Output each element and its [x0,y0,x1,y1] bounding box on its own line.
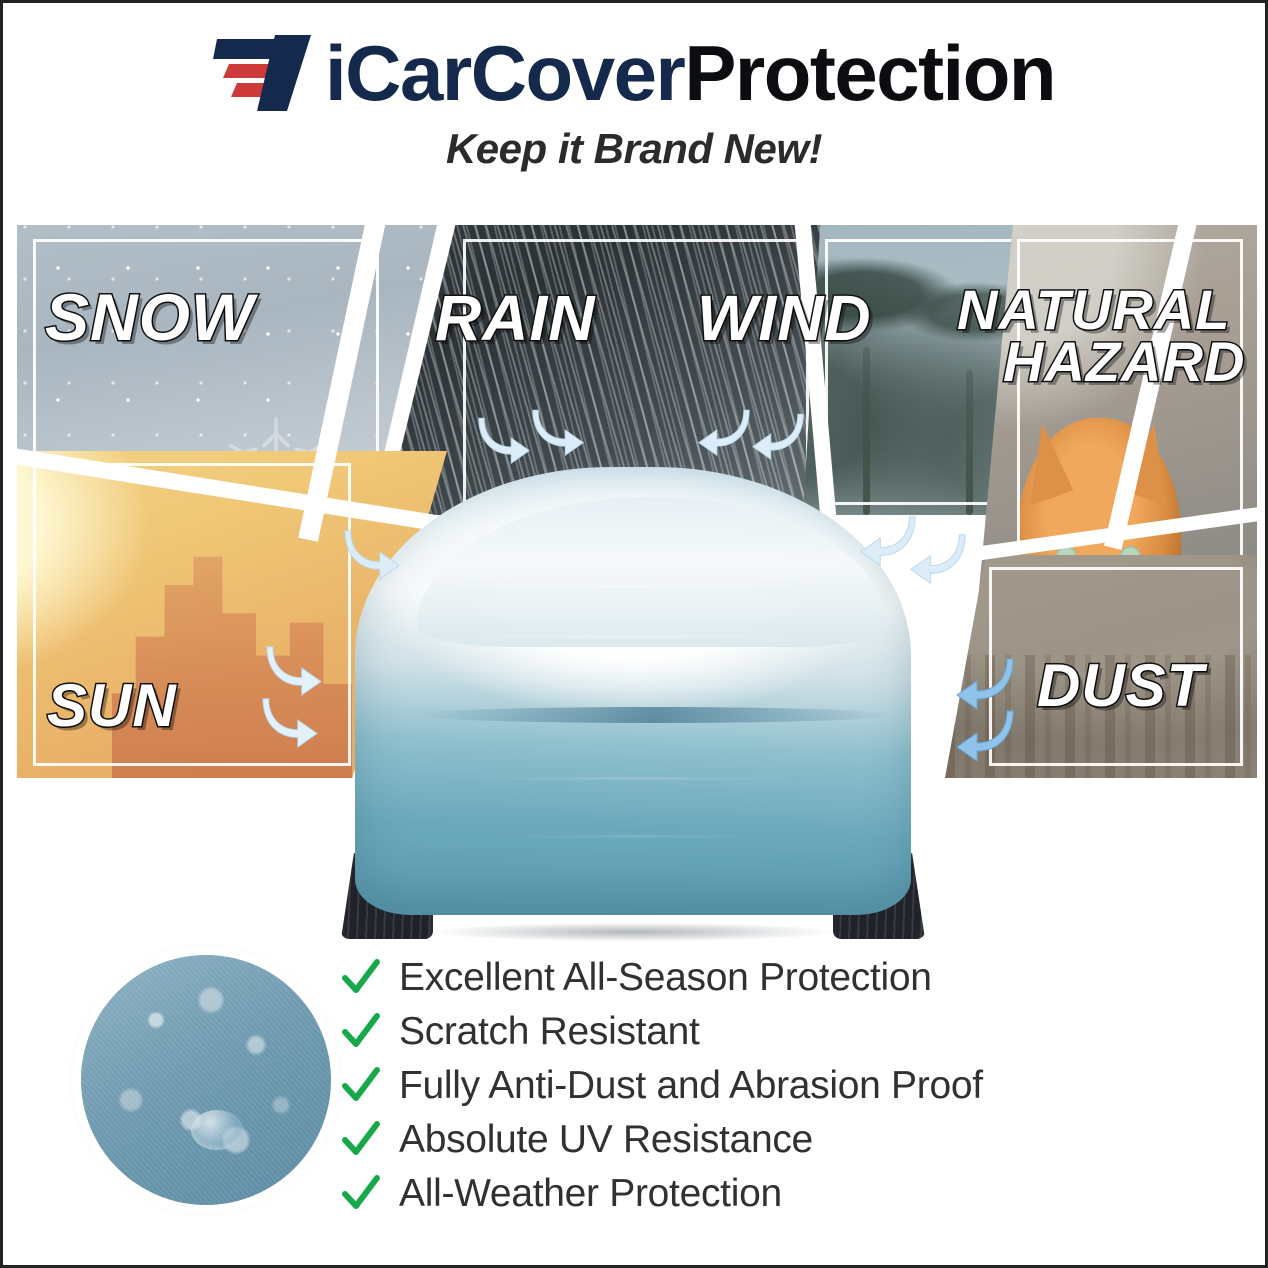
deflection-arrow-icon [343,523,401,581]
water-beading-fabric-swatch [81,955,331,1205]
green-check-icon [341,1120,381,1160]
car-cover-roof [417,497,887,647]
brand-name-primary: iCarCover [325,29,684,117]
list-item: All-Weather Protection [341,1167,983,1221]
feature-label: Fully Anti-Dust and Abrasion Proof [399,1064,983,1108]
feature-label: Absolute UV Resistance [399,1118,813,1162]
collage-label-rain: RAIN [435,287,595,350]
list-item: Absolute UV Resistance [341,1113,983,1167]
water-droplet [191,1110,243,1150]
brand-name: iCarCoverProtection [325,34,1055,112]
collage-label-dust: DUST [1037,657,1204,716]
cover-wrinkle [425,585,825,588]
deflection-arrow-icon [697,403,755,461]
feature-label: Excellent All-Season Protection [399,956,932,1000]
collage-label-sun: SUN [47,677,177,736]
product-infographic: iCarCoverProtection Keep it Brand New! [0,0,1268,1268]
car-shadow [363,919,903,945]
green-check-icon [341,1012,381,1052]
wing-flag-logo-icon [213,33,317,113]
deflection-arrow-icon [265,639,323,697]
brand-name-secondary: Protection [684,29,1055,117]
feature-label: All-Weather Protection [399,1172,782,1216]
feature-list: Excellent All-Season Protection Scratch … [341,951,983,1221]
cover-wrinkle [505,835,765,838]
collage-label-snow: SNOW [45,285,254,350]
cover-wrinkle [451,635,801,638]
deflection-arrow-icon [955,651,1013,709]
header: iCarCoverProtection Keep it Brand New! [3,25,1265,173]
list-item: Fully Anti-Dust and Abrasion Proof [341,1059,983,1113]
deflection-arrow-icon [751,407,809,465]
deflection-arrow-icon [261,691,319,749]
green-check-icon [341,958,381,998]
deflection-arrow-icon [909,527,967,585]
tagline: Keep it Brand New! [3,125,1265,173]
deflection-arrow-icon [955,703,1013,761]
covered-car-front-view [333,435,933,945]
feature-label: Scratch Resistant [399,1010,700,1054]
list-item: Scratch Resistant [341,1005,983,1059]
collage-label-natural-hazard-line2: HAZARD [1003,335,1245,390]
green-check-icon [341,1066,381,1106]
cover-wrinkle [475,777,795,780]
car-cover-body [355,467,911,915]
list-item: Excellent All-Season Protection [341,951,983,1005]
deflection-arrow-icon [531,403,589,461]
deflection-arrow-icon [477,411,535,469]
brand-lockup: iCarCoverProtection [3,25,1265,121]
car-cover-seam [415,707,893,723]
green-check-icon [341,1174,381,1214]
collage-label-wind: WIND [697,287,872,350]
